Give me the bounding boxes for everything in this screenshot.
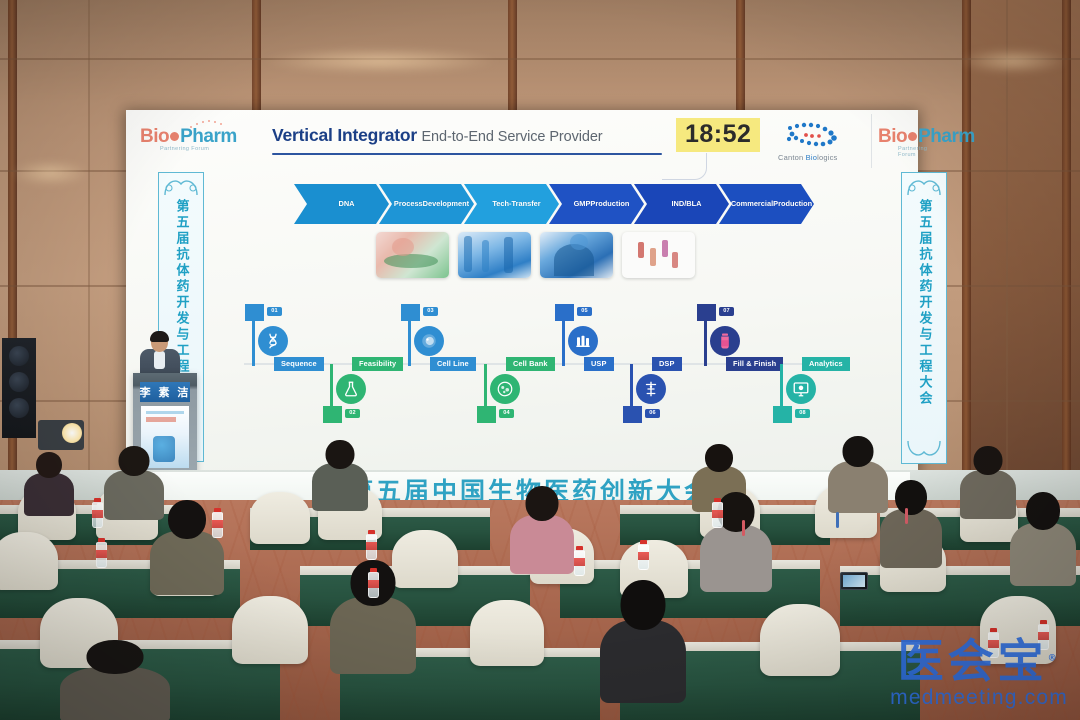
timeline-flag-marker <box>773 406 792 423</box>
process-step-chevron: IND/BLA <box>634 184 729 224</box>
biopharm-logo-left: BioPharm <box>140 126 237 148</box>
process-step-label: DNA <box>338 199 354 208</box>
biopharm-logo-dot-icon <box>908 132 917 141</box>
filled-vials-photo <box>622 232 695 278</box>
timeline-flag-marker <box>401 304 420 321</box>
audience-body <box>24 473 74 516</box>
slide-photo-thumbnails <box>376 232 696 280</box>
timeline-flag-marker <box>323 406 342 423</box>
bottle-lab <box>92 510 103 518</box>
process-step-label: Commercial <box>731 199 773 208</box>
bottle-lab <box>212 520 223 528</box>
stage-light-fixture <box>38 420 84 450</box>
audience-member <box>960 446 1016 516</box>
timeline-flag-marker <box>623 406 642 423</box>
process-step-label: Production <box>590 199 629 208</box>
canton-name-tail: logics <box>817 153 837 162</box>
audience-head <box>705 444 733 472</box>
podium-nameplate: 李 素 洁 <box>140 382 190 402</box>
banner-ornament-icon <box>904 175 944 197</box>
banner-ornament-icon <box>904 439 944 461</box>
timeline-step-number: 06 <box>645 409 660 418</box>
podium-name-text: 李 素 洁 <box>140 384 191 400</box>
audience-member <box>510 486 574 570</box>
audience-body <box>60 667 170 720</box>
timeline-step-number: 02 <box>345 409 360 418</box>
audience-head <box>168 500 206 539</box>
bottle-lab <box>638 552 649 560</box>
audience-head <box>843 436 874 467</box>
bioreactor-icon <box>568 326 598 356</box>
flask-icon <box>336 374 366 404</box>
watermark-registered-mark: ® <box>1048 654 1061 664</box>
timeline-flag-marker <box>555 304 574 321</box>
audience-chair <box>470 600 544 666</box>
audience-body <box>828 461 888 513</box>
process-step-label: Process <box>394 199 423 208</box>
timeline-step-number: 08 <box>795 409 810 418</box>
slide-title: Vertical Integrator End-to-End Service P… <box>272 125 603 146</box>
timeline-step-number: 07 <box>719 307 734 316</box>
audience-member <box>1010 492 1076 582</box>
audience-member <box>600 580 686 698</box>
vial-icon <box>710 326 740 356</box>
water-bottle <box>212 508 223 538</box>
water-bottle <box>92 498 103 528</box>
biopharm-tagline-right: Partnering Forum <box>898 146 927 158</box>
timeline-step-label: Cell Line <box>430 357 476 371</box>
audience-head <box>119 446 150 476</box>
bottle-lab <box>96 550 107 558</box>
timeline-flag-marker <box>245 304 264 321</box>
slide-title-regular: End-to-End Service Provider <box>421 129 602 145</box>
audience-member <box>880 480 942 564</box>
water-bottle <box>366 530 377 560</box>
timeline-step-label: Sequence <box>274 357 324 371</box>
bottle-lab <box>712 510 723 518</box>
banner-ornament-icon <box>161 175 201 197</box>
conference-photo-scene: BioPharm Partnering Forum Vertical Integ… <box>0 0 1080 720</box>
table-top <box>560 560 820 569</box>
wall-seam <box>88 0 90 470</box>
lanyard <box>742 520 745 536</box>
bioreactor-suite-photo <box>458 232 531 278</box>
watermark-cn-value: 医会宝 <box>898 634 1048 688</box>
right-vertical-banner: 第五届抗体药开发与工程大会 <box>901 172 947 464</box>
audience-head <box>1026 492 1060 530</box>
canton-biologics-logo: Canton Biologics <box>776 120 866 166</box>
wall-cove-light <box>958 48 1068 74</box>
process-timeline: 01Sequence02Feasibility03Cell Line04Cell… <box>244 302 804 424</box>
timeline-step-label: DSP <box>652 357 682 371</box>
centrifuge-equipment-photo <box>540 232 613 278</box>
timeline-flag-marker <box>477 406 496 423</box>
water-bottle <box>96 538 107 568</box>
water-bottle <box>368 568 379 598</box>
timeline-step-label: Analytics <box>802 357 850 371</box>
audience-body <box>880 509 942 568</box>
process-step-label: Tech- <box>492 199 511 208</box>
timeline-step-label: Fill & Finish <box>726 357 783 371</box>
wall-seam <box>0 58 1080 60</box>
audience-member <box>700 492 772 588</box>
watermark-en-text: medmeeting.com <box>890 686 1068 710</box>
watermark: 医会宝® medmeeting.com <box>890 638 1068 710</box>
process-chevron-row: DNAProcessDevelopmentTech-TransferGMPPro… <box>294 184 804 224</box>
wall-cove-light <box>260 48 500 74</box>
canton-name-accent: Bio <box>806 153 817 162</box>
canton-dna-swirl-icon <box>776 120 866 152</box>
timeline-step-number: 01 <box>267 307 282 316</box>
audience-head <box>621 580 666 630</box>
audience-head <box>718 492 755 532</box>
process-step-chevron: Tech-Transfer <box>464 184 559 224</box>
wall-cove-light <box>10 160 90 186</box>
audience-body <box>600 620 686 703</box>
column-icon <box>636 374 666 404</box>
bottle-lab <box>574 558 585 566</box>
audience-phone <box>840 572 868 590</box>
audience-chair <box>250 492 310 544</box>
timeline-step-number: 04 <box>499 409 514 418</box>
audience-member <box>24 452 74 514</box>
audience-body <box>312 463 368 511</box>
audience-head <box>87 640 144 674</box>
right-banner-text: 第五届抗体药开发与工程大会 <box>918 199 931 407</box>
biopharm-logo-part1: Bio <box>878 126 907 147</box>
audience-head <box>974 446 1003 475</box>
biopharm-logo-part1: Bio <box>140 126 169 147</box>
canton-biologics-wordmark: Canton Biologics <box>778 153 838 162</box>
water-bottle <box>638 540 649 570</box>
header-divider <box>871 114 872 168</box>
process-step-chevron: GMPProduction <box>549 184 644 224</box>
watermark-cn-text: 医会宝® <box>890 638 1068 684</box>
water-bottle <box>712 498 723 528</box>
pipetting-samples-photo <box>376 232 449 278</box>
biopharm-tagline-left: Partnering Forum <box>160 146 209 152</box>
timeline-step-label: Feasibility <box>352 357 403 371</box>
cell-icon <box>414 326 444 356</box>
process-step-label: Development <box>423 199 469 208</box>
water-bottle <box>574 546 585 576</box>
audience-head <box>36 452 62 478</box>
slide-header: BioPharm Partnering Forum Vertical Integ… <box>126 110 918 172</box>
timeline-step-number: 03 <box>423 307 438 316</box>
process-step-label: Transfer <box>512 199 541 208</box>
audience-body <box>960 470 1016 519</box>
canton-name-plain: Canton <box>778 153 806 162</box>
audience-body <box>1010 523 1076 586</box>
slide-title-underline <box>272 153 662 155</box>
dna-icon <box>258 326 288 356</box>
presentation-timer: 18:52 <box>676 118 760 152</box>
audience-body <box>150 531 224 595</box>
biopharm-logo-right: BioPharm <box>878 126 975 148</box>
audience-chair <box>760 604 840 676</box>
audience-member <box>60 640 170 720</box>
audience-head <box>326 440 355 469</box>
timeline-flag-marker <box>697 304 716 321</box>
process-step-label: GMP <box>574 199 591 208</box>
audience-member <box>828 436 888 510</box>
audience-chair <box>0 532 58 590</box>
cellbank-icon <box>490 374 520 404</box>
presentation-screen: BioPharm Partnering Forum Vertical Integ… <box>126 110 918 472</box>
process-step-label: Production <box>773 199 812 208</box>
biopharm-logo-dot-icon <box>170 132 179 141</box>
audience-member <box>312 440 368 508</box>
pa-speaker-stack <box>2 338 36 438</box>
slide-title-bold: Vertical Integrator <box>272 125 417 145</box>
audience-chair <box>232 596 308 664</box>
audience-head <box>895 480 927 515</box>
audience-body <box>700 525 772 592</box>
timeline-step-number: 05 <box>577 307 592 316</box>
audience-body <box>510 515 574 574</box>
lanyard <box>836 512 839 528</box>
biopharm-logo-part2: Pharm <box>918 126 975 147</box>
timeline-step-label: USP <box>584 357 614 371</box>
monitor-icon <box>786 374 816 404</box>
audience-body <box>330 597 416 674</box>
lanyard <box>905 508 908 524</box>
presentation-timer-value: 18:52 <box>685 120 751 148</box>
audience-head <box>526 486 559 521</box>
bottle-lab <box>366 542 377 550</box>
process-step-chevron: DNA <box>294 184 389 224</box>
biopharm-logo-part2: Pharm <box>180 126 237 147</box>
timeline-step-label: Cell Bank <box>506 357 555 371</box>
process-step-chevron: CommercialProduction <box>719 184 814 224</box>
process-step-label: IND/BLA <box>672 199 702 208</box>
bottle-lab <box>368 580 379 588</box>
process-step-chevron: ProcessDevelopment <box>379 184 474 224</box>
